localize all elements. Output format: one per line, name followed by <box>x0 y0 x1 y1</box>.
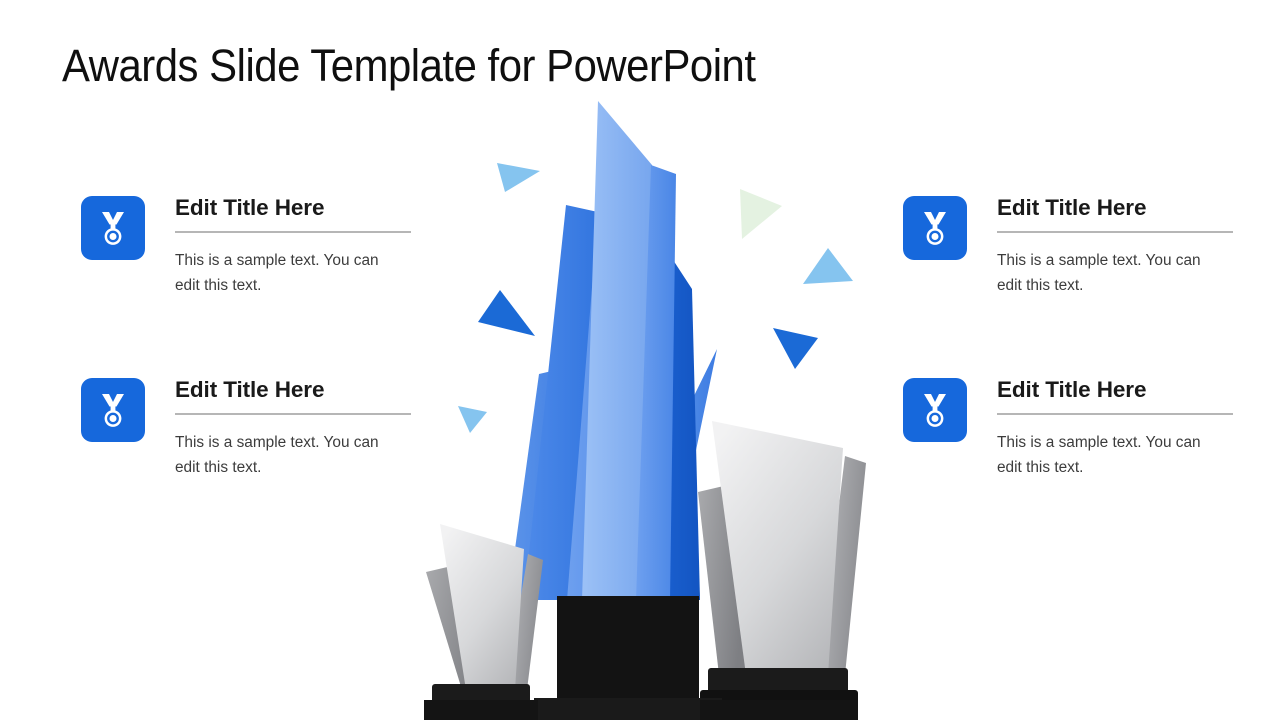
blade-right-medium <box>636 165 676 600</box>
medal-badge[interactable] <box>81 378 145 442</box>
medal-icon <box>918 209 952 247</box>
feature-title: Edit Title Here <box>175 196 411 220</box>
center-base-foot-left <box>424 700 538 720</box>
confetti-triangle-light-blue-1 <box>497 163 540 192</box>
medal-badge[interactable] <box>81 196 145 260</box>
blade-deep-right <box>655 243 700 600</box>
feature-block-top-left[interactable]: Edit Title Here This is a sample text. Y… <box>81 196 411 299</box>
blade-outer-right <box>665 349 717 600</box>
silver-left-side-panel <box>426 565 489 690</box>
confetti-triangle-light-blue-3 <box>458 406 487 433</box>
feature-divider <box>175 413 411 415</box>
blade-outer-left <box>508 367 578 600</box>
feature-body: This is a sample text. You can edit this… <box>175 249 401 299</box>
silver-left-base-top <box>432 684 530 704</box>
feature-body: This is a sample text. You can edit this… <box>175 431 401 481</box>
feature-text-group: Edit Title Here This is a sample text. Y… <box>175 378 411 481</box>
medal-icon <box>96 209 130 247</box>
awards-illustration <box>0 0 1280 720</box>
silver-trophy-right <box>698 421 866 720</box>
medal-icon <box>96 391 130 429</box>
feature-divider <box>997 231 1233 233</box>
confetti-triangle-light-blue-2 <box>803 248 853 284</box>
silver-left-base-bottom <box>424 700 538 720</box>
center-base-plinth <box>534 698 722 720</box>
silver-right-base-bottom <box>700 690 858 720</box>
feature-block-bottom-right[interactable]: Edit Title Here This is a sample text. Y… <box>903 378 1233 481</box>
feature-divider <box>997 413 1233 415</box>
confetti-triangle-blue-1 <box>478 290 535 336</box>
silver-right-side-panel-left <box>698 485 748 675</box>
feature-block-top-right[interactable]: Edit Title Here This is a sample text. Y… <box>903 196 1233 299</box>
medal-badge[interactable] <box>903 196 967 260</box>
feature-text-group: Edit Title Here This is a sample text. Y… <box>175 196 411 299</box>
medal-badge[interactable] <box>903 378 967 442</box>
medal-icon <box>918 391 952 429</box>
feature-body: This is a sample text. You can edit this… <box>997 431 1223 481</box>
center-base-foot-right <box>700 700 858 720</box>
confetti-triangle-blue-2 <box>773 328 818 369</box>
feature-title: Edit Title Here <box>175 378 411 402</box>
feature-body: This is a sample text. You can edit this… <box>997 249 1223 299</box>
blue-trophy-center <box>508 101 717 600</box>
feature-text-group: Edit Title Here This is a sample text. Y… <box>997 196 1233 299</box>
silver-right-side-panel-right <box>818 456 866 675</box>
center-base-block <box>557 596 699 700</box>
slide-canvas: Awards Slide Template for PowerPoint Edi… <box>0 0 1280 720</box>
feature-block-bottom-left[interactable]: Edit Title Here This is a sample text. Y… <box>81 378 411 481</box>
silver-right-base-top <box>708 668 848 694</box>
page-title: Awards Slide Template for PowerPoint <box>62 40 756 92</box>
confetti-triangle-green <box>740 189 782 239</box>
feature-text-group: Edit Title Here This is a sample text. Y… <box>997 378 1233 481</box>
silver-left-face <box>440 524 524 690</box>
blade-front-tall <box>582 101 652 600</box>
feature-divider <box>175 231 411 233</box>
blade-mid-left <box>567 206 640 600</box>
silver-right-face <box>712 421 843 675</box>
silver-trophy-left <box>424 524 543 720</box>
silver-left-side-panel-right <box>505 554 543 690</box>
confetti-group <box>458 163 853 433</box>
blue-trophy-base <box>424 596 858 720</box>
feature-title: Edit Title Here <box>997 196 1233 220</box>
blade-dark-left <box>524 205 607 600</box>
feature-title: Edit Title Here <box>997 378 1233 402</box>
